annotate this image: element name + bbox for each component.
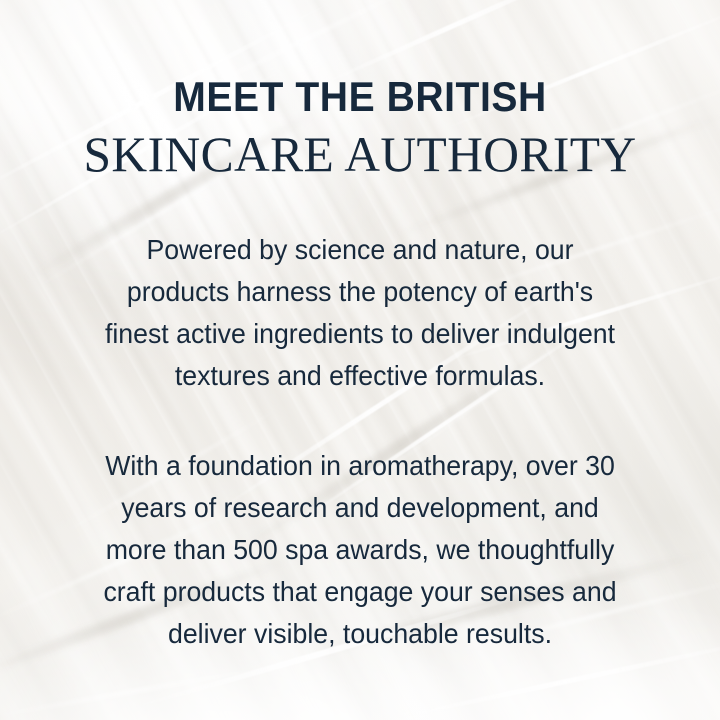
- paragraph-line: With a foundation in aromatherapy, over …: [53, 445, 666, 487]
- paragraph-line: textures and effective formulas.: [53, 355, 666, 397]
- heading-block: MEET THE BRITISH SKINCARE AUTHORITY: [0, 74, 720, 182]
- paragraph-line: Powered by science and nature, our: [53, 229, 666, 271]
- paragraph-line: years of research and development, and: [53, 487, 666, 529]
- marketing-poster: MEET THE BRITISH SKINCARE AUTHORITY Powe…: [0, 0, 720, 720]
- paragraph-line: finest active ingredients to deliver ind…: [53, 313, 666, 355]
- heading-line-secondary: SKINCARE AUTHORITY: [4, 126, 717, 182]
- body-paragraph-two: With a foundation in aromatherapy, over …: [53, 445, 666, 655]
- body-paragraph-one: Powered by science and nature, our produ…: [53, 229, 666, 397]
- paragraph-line: products harness the potency of earth's: [53, 271, 666, 313]
- heading-line-primary: MEET THE BRITISH: [25, 74, 695, 120]
- poster-content: MEET THE BRITISH SKINCARE AUTHORITY Powe…: [0, 0, 720, 720]
- paragraph-line: craft products that engage your senses a…: [53, 571, 666, 613]
- paragraph-line: more than 500 spa awards, we thoughtfull…: [53, 529, 666, 571]
- paragraph-line: deliver visible, touchable results.: [53, 613, 666, 655]
